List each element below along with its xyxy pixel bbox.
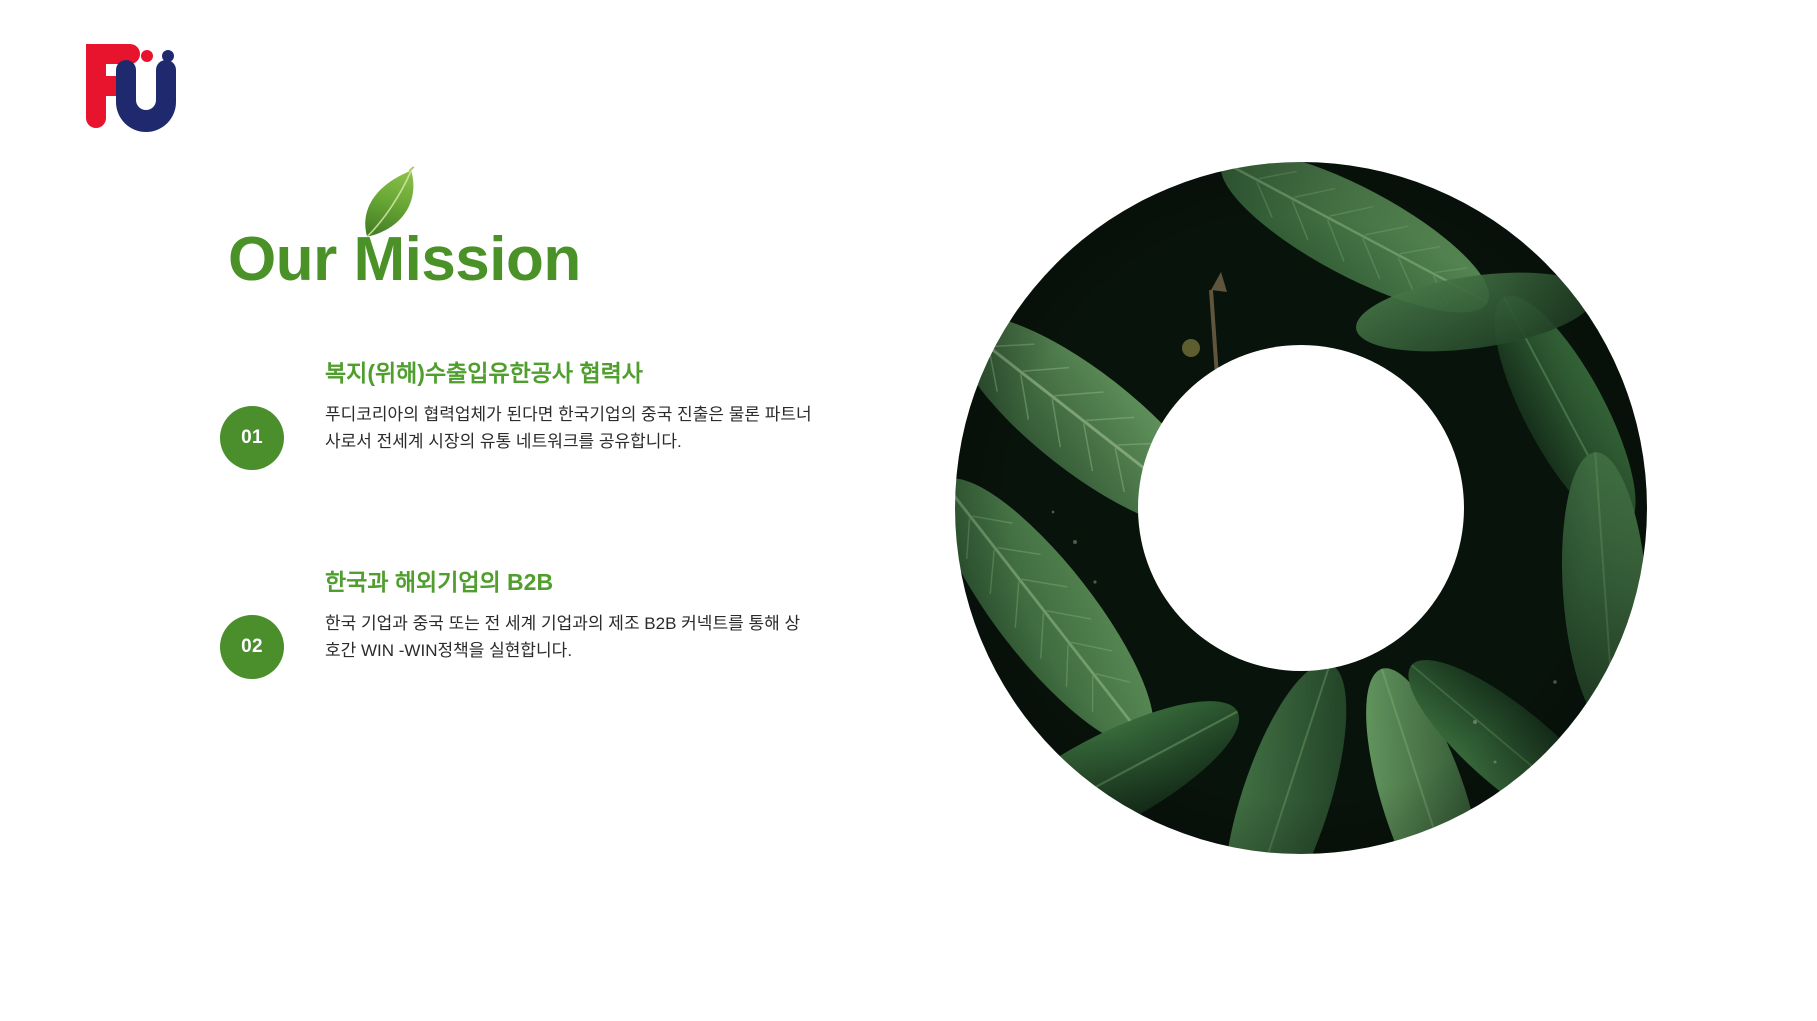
- logo-fu-icon: [78, 38, 178, 133]
- green-leaves-ring-image: [955, 162, 1647, 854]
- mission-item-02: 02 한국과 해외기업의 B2B 한국 기업과 중국 또는 전 세계 기업과의 …: [220, 567, 820, 664]
- company-logo: [78, 38, 178, 133]
- mission-item-01: 01 복지(위해)수출입유한공사 협력사 푸디코리아의 협력업체가 된다면 한국…: [220, 358, 820, 455]
- mission-item-body: 푸디코리아의 협력업체가 된다면 한국기업의 중국 진출은 물론 파트너사로서 …: [325, 401, 815, 455]
- mission-item-body: 한국 기업과 중국 또는 전 세계 기업과의 제조 B2B 커넥트를 통해 상호…: [325, 610, 815, 664]
- ring-artwork-svg: [955, 162, 1647, 854]
- page-title-text: Our Mission: [228, 225, 581, 295]
- mission-item-badge: 01: [220, 406, 284, 470]
- mission-item-content: 한국과 해외기업의 B2B 한국 기업과 중국 또는 전 세계 기업과의 제조 …: [325, 567, 820, 664]
- mission-item-badge: 02: [220, 615, 284, 679]
- mission-item-content: 복지(위해)수출입유한공사 협력사 푸디코리아의 협력업체가 된다면 한국기업의…: [325, 358, 820, 455]
- slide-canvas: Our Mission 01 복지(위해)수출입유한공사 협력사 푸디코리아의 …: [0, 0, 1817, 1021]
- mission-item-heading: 한국과 해외기업의 B2B: [325, 567, 820, 597]
- mission-item-list: 01 복지(위해)수출입유한공사 협력사 푸디코리아의 협력업체가 된다면 한국…: [220, 358, 820, 776]
- page-title: Our Mission: [228, 225, 581, 295]
- mission-item-heading: 복지(위해)수출입유한공사 협력사: [325, 358, 820, 388]
